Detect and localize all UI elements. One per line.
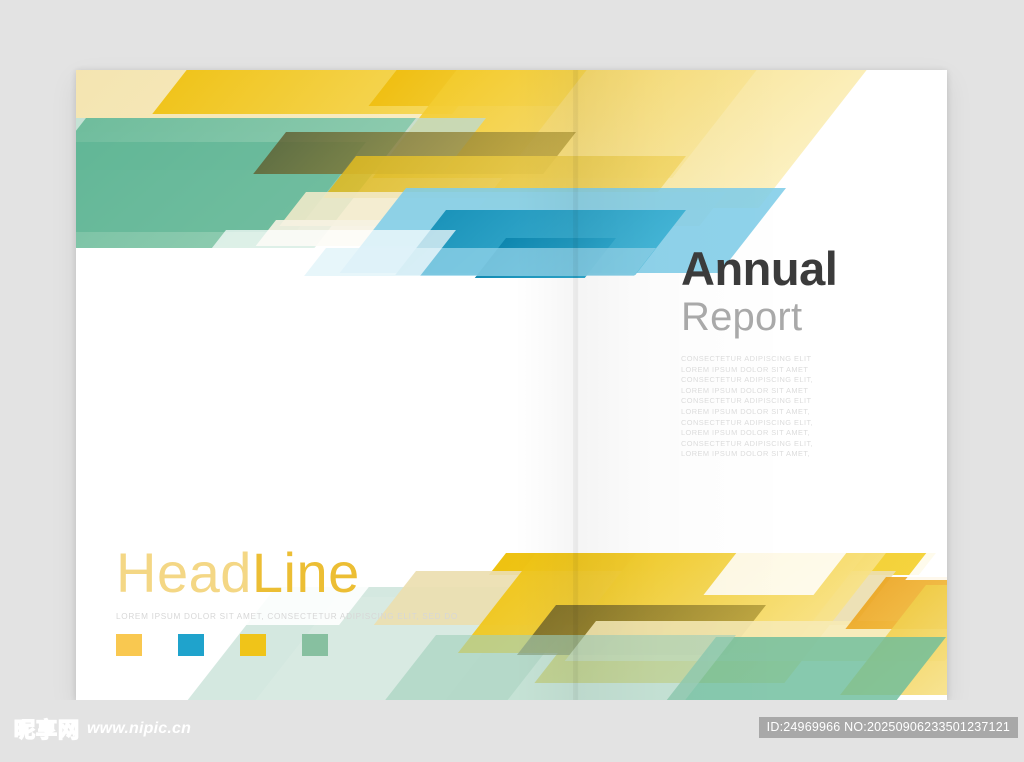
body-line: CONSECTETUR ADIPISCING ELIT	[681, 396, 837, 407]
body-line: LOREM IPSUM DOLOR SIT AMET,	[681, 407, 837, 418]
swatch-green	[302, 634, 328, 656]
body-line: CONSECTETUR ADIPISCING ELIT	[681, 354, 837, 365]
brochure-spread: Annual Report CONSECTETUR ADIPISCING ELI…	[76, 70, 947, 700]
report-title-block: Annual Report CONSECTETUR ADIPISCING ELI…	[681, 245, 837, 460]
body-line: CONSECTETUR ADIPISCING ELIT,	[681, 375, 837, 386]
headline-block: HeadLine LOREM IPSUM DOLOR SIT AMET, CON…	[116, 545, 458, 656]
body-line: LOREM IPSUM DOLOR SIT AMET	[681, 365, 837, 376]
headline-part-head: Head	[116, 541, 252, 604]
headline: HeadLine	[116, 545, 458, 601]
swatch-gold	[240, 634, 266, 656]
image-id-badge: ID:24969966 NO:20250906233501237121	[759, 717, 1018, 738]
page-title-annual: Annual	[681, 245, 837, 292]
body-line: LOREM IPSUM DOLOR SIT AMET,	[681, 449, 837, 460]
body-line: LOREM IPSUM DOLOR SIT AMET	[681, 386, 837, 397]
body-line: CONSECTETUR ADIPISCING ELIT,	[681, 418, 837, 429]
report-body-text: CONSECTETUR ADIPISCING ELIT LOREM IPSUM …	[681, 354, 837, 460]
brand-url: www.nipic.cn	[87, 720, 191, 738]
body-line: CONSECTETUR ADIPISCING ELIT,	[681, 439, 837, 450]
footer-watermark-bar: 昵享网 www.nipic.cn ID:24969966 NO:20250906…	[0, 700, 1024, 762]
body-line: LOREM IPSUM DOLOR SIT AMET,	[681, 428, 837, 439]
headline-part-line: Line	[252, 541, 360, 604]
brand-name-cn: 昵享网	[14, 714, 80, 744]
swatch-amber	[116, 634, 142, 656]
page-title-report: Report	[681, 294, 837, 340]
color-swatch-row	[116, 634, 458, 656]
headline-subline: LOREM IPSUM DOLOR SIT AMET, CONSECTETUR …	[116, 612, 458, 621]
screenshot-canvas: Annual Report CONSECTETUR ADIPISCING ELI…	[0, 0, 1024, 762]
swatch-blue	[178, 634, 204, 656]
site-brand-logo: 昵享网 www.nipic.cn	[14, 714, 191, 744]
